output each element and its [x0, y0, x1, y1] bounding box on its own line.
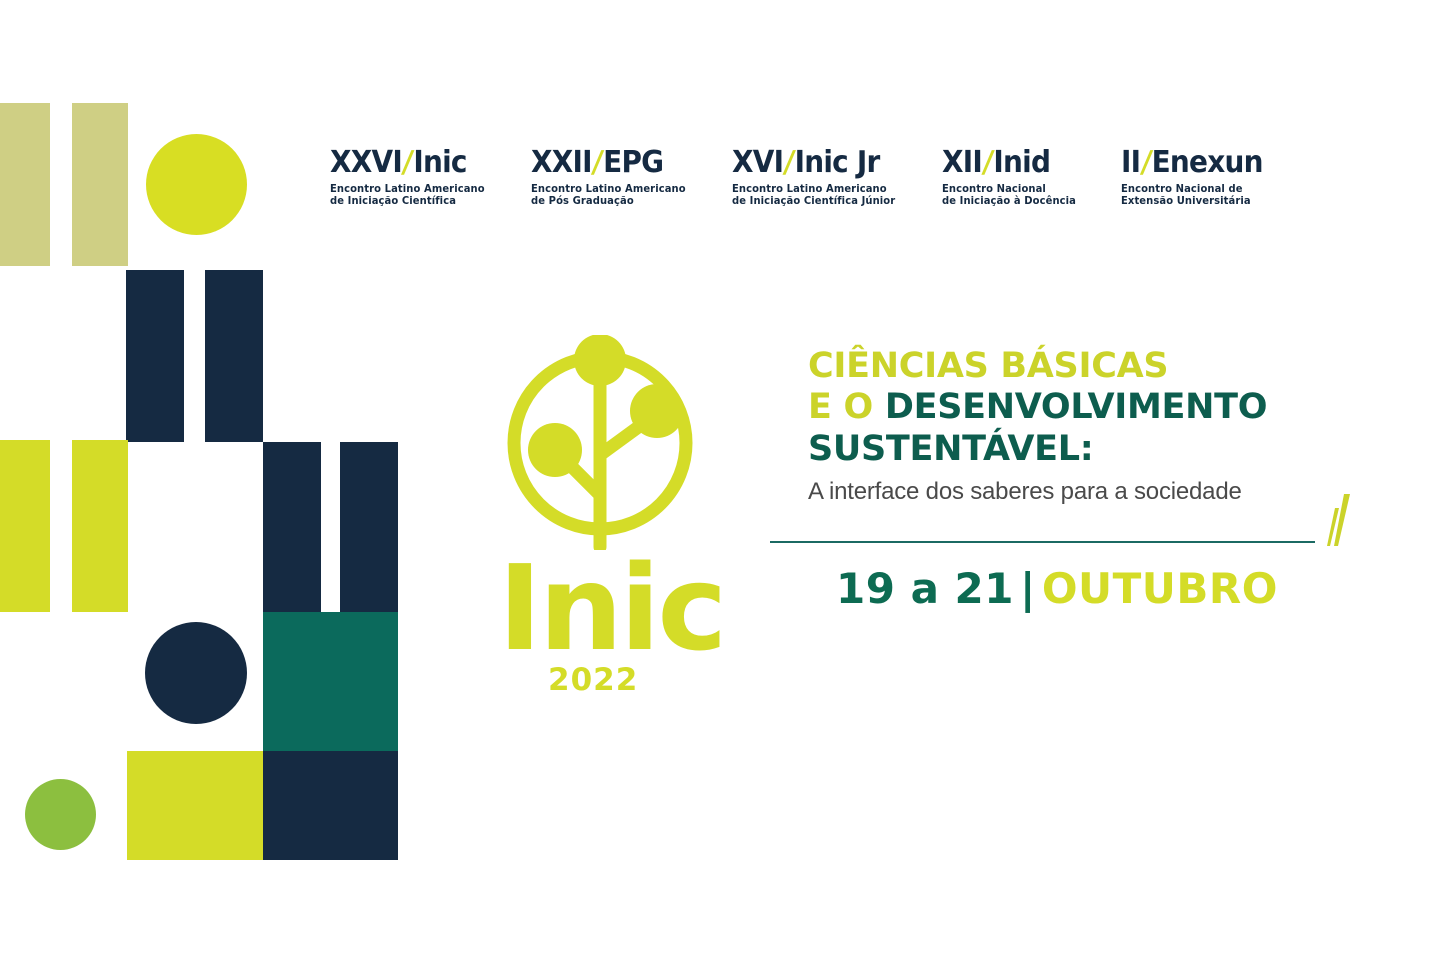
headline-block: CIÊNCIAS BÁSICAS E O DESENVOLVIMENTO SUS… [808, 346, 1368, 470]
event-logo-roman-numeral: II [1121, 148, 1140, 178]
event-logo-inic: XXVI/InicEncontro Latino Americano de In… [330, 148, 493, 208]
event-logo-subtitle: Encontro Latino Americano de Pós Graduaç… [531, 183, 686, 208]
event-logo-roman-numeral: XII [942, 148, 982, 178]
event-logo-title: XII/Inid [942, 148, 1050, 178]
event-logo-roman-numeral: XXII [531, 148, 592, 178]
event-logo-title: II/Enexun [1121, 148, 1263, 178]
teal-block [263, 612, 398, 751]
event-logo-title: XXII/EPG [531, 148, 663, 178]
green-circle-bottom [25, 779, 96, 850]
navy-circle [145, 622, 247, 724]
event-dateline: 19 a 21|OUTUBRO [836, 568, 1278, 610]
headline-line-1-text: CIÊNCIAS BÁSICAS [808, 346, 1168, 386]
headline-line-1: CIÊNCIAS BÁSICAS [808, 346, 1368, 387]
inic-brand-mark: Inic 2022 [490, 335, 730, 705]
pale-bar-top-second [72, 103, 128, 266]
lime-circle-top [146, 134, 247, 235]
event-logo-enexun: II/EnexunEncontro Nacional de Extensão U… [1121, 148, 1273, 208]
headline-line-3-text: SUSTENTÁVEL: [808, 429, 1093, 469]
event-logo-name: Enexun [1151, 148, 1262, 178]
inic-wordmark: Inic [498, 549, 724, 667]
decorative-geometric-pattern [0, 0, 420, 960]
headline-line-2-lime: E O [808, 387, 885, 427]
event-logo-strip: XXVI/InicEncontro Latino Americano de In… [330, 148, 1390, 220]
navy-column-left [263, 442, 321, 612]
event-logo-roman-numeral: XVI [732, 148, 783, 178]
event-logo-name: Inic Jr [794, 148, 879, 178]
event-logo-inid: XII/InidEncontro Nacional de Iniciação à… [942, 148, 1083, 208]
dateline-separator: | [1014, 564, 1042, 613]
lime-bar-second [72, 440, 128, 612]
pale-bar-top-left [0, 103, 50, 266]
navy-bar-mid-right [205, 270, 263, 442]
event-logo-name: Inic [413, 148, 466, 178]
navy-square-bottom [263, 751, 398, 860]
event-logo-title: XVI/Inic Jr [732, 148, 880, 178]
event-logo-title: XXVI/Inic [330, 148, 467, 178]
double-slash-accent-icon [1322, 494, 1362, 546]
headline-subtitle: A interface dos saberes para a sociedade [808, 478, 1242, 506]
headline-line-3: SUSTENTÁVEL: [808, 429, 1368, 470]
event-logo-epg: XXII/EPGEncontro Latino Americano de Pós… [531, 148, 694, 208]
navy-bar-mid-left [126, 270, 184, 442]
navy-column-right [340, 442, 398, 612]
lime-square-bottom [127, 751, 263, 860]
event-logo-roman-numeral: XXVI [330, 148, 402, 178]
headline-line-2: E O DESENVOLVIMENTO [808, 387, 1368, 428]
dateline-days: 19 a 21 [836, 564, 1014, 613]
event-logo-subtitle: Encontro Latino Americano de Iniciação C… [732, 183, 895, 208]
inic-tree-circle-icon [500, 335, 705, 550]
poster-canvas: XXVI/InicEncontro Latino Americano de In… [0, 0, 1440, 960]
event-logo-inic-jr: XVI/Inic JrEncontro Latino Americano de … [732, 148, 904, 208]
event-logo-subtitle: Encontro Nacional de Extensão Universitá… [1121, 183, 1251, 208]
event-logo-name: EPG [603, 148, 663, 178]
dateline-month: OUTUBRO [1042, 564, 1278, 613]
event-logo-name: Inid [993, 148, 1050, 178]
section-divider [770, 541, 1315, 543]
lime-bar-left [0, 440, 50, 612]
event-logo-subtitle: Encontro Latino Americano de Iniciação C… [330, 183, 485, 208]
headline-line-2-teal: DESENVOLVIMENTO [885, 387, 1267, 427]
inic-year: 2022 [548, 665, 638, 696]
event-logo-subtitle: Encontro Nacional de Iniciação à Docênci… [942, 183, 1076, 208]
